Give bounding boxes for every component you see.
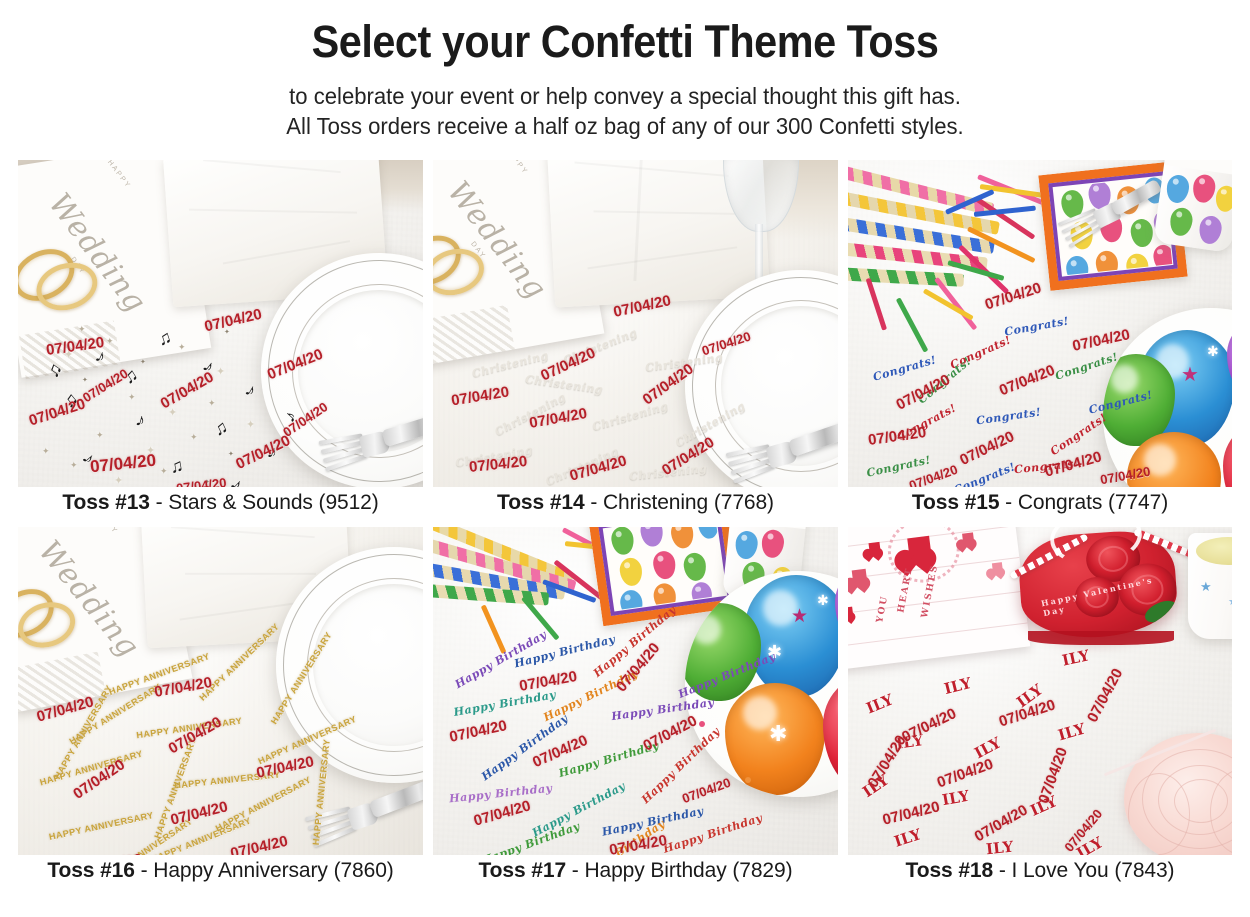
product-caption-toss-17: Toss #17 - Happy Birthday (7829) [433, 855, 838, 887]
product-caption-toss-13: Toss #13 - Stars & Sounds (9512) [18, 487, 423, 519]
product-code: (7843) [1114, 859, 1174, 882]
product-id: Toss #18 [906, 859, 994, 882]
wedding-card-happy-text: HAPPY [92, 527, 119, 536]
product-photo-congrats[interactable]: ★ ✱ ✱ [848, 160, 1232, 487]
product-photo-i-love-you[interactable]: HEART WISHES YOU Happy Valentine's Day [848, 527, 1232, 855]
caption-dash: - [572, 859, 579, 882]
product-photo-anniversary[interactable]: HAPPY Wedding [18, 527, 423, 855]
product-cell-toss-18[interactable]: HEART WISHES YOU Happy Valentine's Day [848, 527, 1232, 887]
wedding-card-happy-text: HAPPY [503, 160, 529, 176]
product-cell-toss-14[interactable]: HAPPY Wedding DAY [433, 160, 838, 519]
product-id: Toss #13 [62, 491, 150, 514]
product-code: (7829) [732, 859, 792, 882]
page-title: Select your Confetti Theme Toss [50, 18, 1200, 67]
product-caption-toss-14: Toss #14 - Christening (7768) [433, 487, 838, 519]
product-cell-toss-16[interactable]: HAPPY Wedding [18, 527, 423, 887]
product-code: (7768) [714, 491, 774, 514]
poster-header: Select your Confetti Theme Toss to celeb… [0, 0, 1250, 142]
product-name: Christening [603, 491, 708, 514]
product-caption-toss-15: Toss #15 - Congrats (7747) [848, 487, 1232, 519]
product-id: Toss #15 [912, 491, 1000, 514]
subtitle-line-1: to celebrate your event or help convey a… [38, 81, 1213, 112]
product-cell-toss-17[interactable]: ★ ✱ ✱ ✱ [433, 527, 838, 887]
wedding-rings-graphic [18, 233, 106, 326]
product-cell-toss-15[interactable]: ★ ✱ ✱ [848, 160, 1232, 519]
party-cup [1153, 160, 1232, 253]
caption-dash: - [156, 491, 163, 514]
product-caption-toss-18: Toss #18 - I Love You (7843) [848, 855, 1232, 887]
product-id: Toss #17 [479, 859, 567, 882]
caption-dash: - [1005, 491, 1012, 514]
product-caption-toss-16: Toss #16 - Happy Anniversary (7860) [18, 855, 423, 887]
caption-dash: - [141, 859, 148, 882]
product-code: (7747) [1108, 491, 1168, 514]
product-name: Congrats [1018, 491, 1102, 514]
valentine-card: HEART WISHES YOU [848, 527, 1030, 671]
party-blowers [848, 160, 1058, 346]
rose-gift-bag: Happy Valentine's Day [1012, 527, 1192, 669]
product-name: Stars & Sounds [168, 491, 313, 514]
product-name: I Love You [1011, 859, 1108, 882]
product-photo-stars-sounds[interactable]: HAPPY Wedding DAY [18, 160, 423, 487]
caption-dash: - [590, 491, 597, 514]
valentine-card-line-3: YOU [875, 594, 890, 624]
product-cell-toss-13[interactable]: HAPPY Wedding DAY [18, 160, 423, 519]
poster-page: Select your Confetti Theme Toss to celeb… [0, 0, 1250, 917]
product-name: Happy Birthday [584, 859, 726, 882]
subtitle-line-2: All Toss orders receive a half oz bag of… [38, 111, 1213, 142]
product-grid: HAPPY Wedding DAY [18, 160, 1232, 887]
product-code: (7860) [334, 859, 394, 882]
product-photo-birthday[interactable]: ★ ✱ ✱ ✱ [433, 527, 838, 855]
product-id: Toss #14 [497, 491, 585, 514]
product-code: (9512) [319, 491, 379, 514]
teacup: ★ ★ ★ [1188, 533, 1232, 639]
caption-dash: - [999, 859, 1006, 882]
wedding-card-happy-text: HAPPY [106, 160, 132, 190]
product-photo-christening[interactable]: HAPPY Wedding DAY [433, 160, 838, 487]
product-name: Happy Anniversary [153, 859, 328, 882]
product-id: Toss #16 [47, 859, 135, 882]
